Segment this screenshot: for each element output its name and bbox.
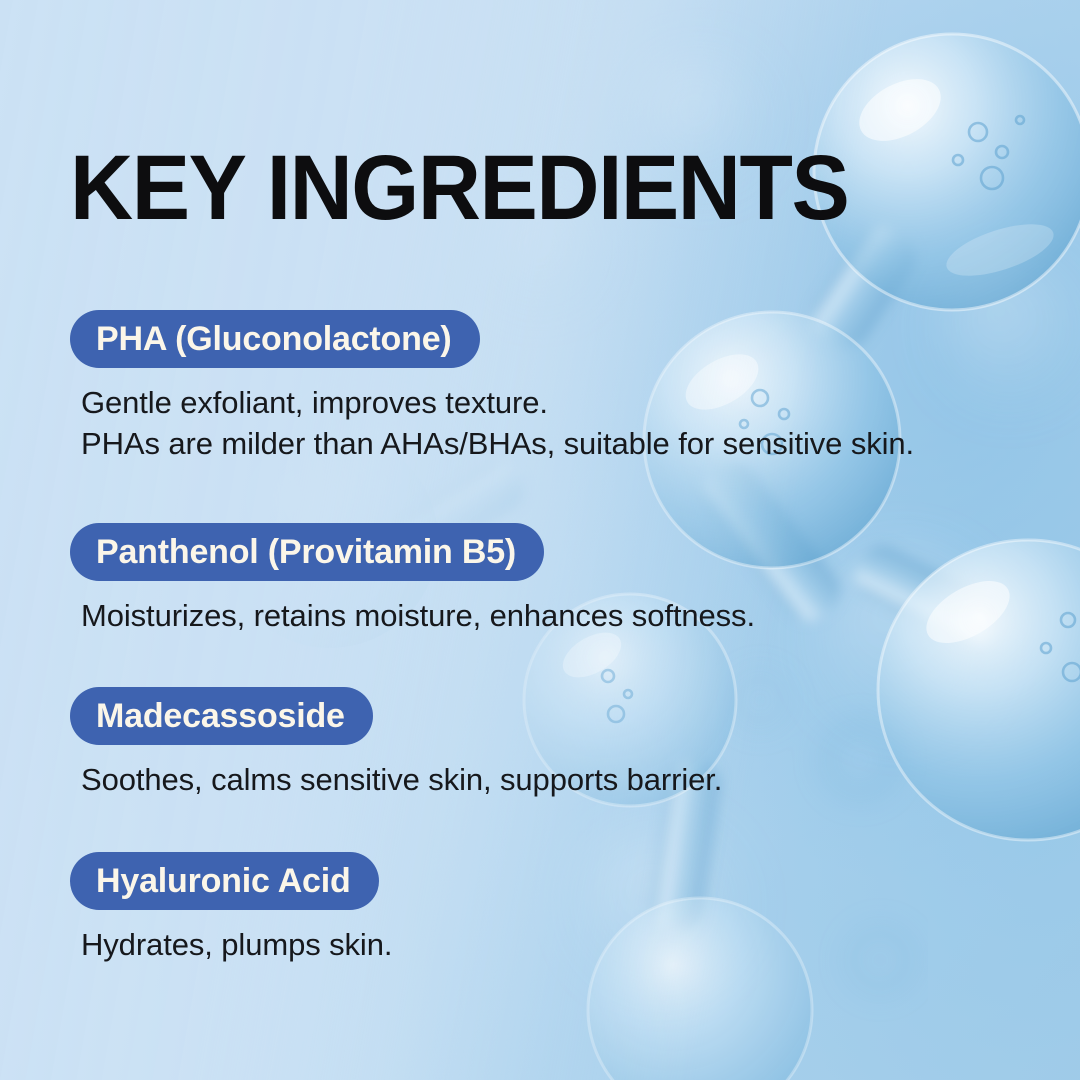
ingredient-section-panthenol: Panthenol (Provitamin B5) Moisturizes, r… — [70, 523, 1030, 636]
ingredient-name-badge: PHA (Gluconolactone) — [70, 310, 480, 368]
page-title: KEY INGREDIENTS — [70, 142, 848, 234]
ingredient-name-badge: Hyaluronic Acid — [70, 852, 379, 910]
ingredient-name-badge: Panthenol (Provitamin B5) — [70, 523, 544, 581]
infographic-canvas: KEY INGREDIENTS PHA (Gluconolactone) Gen… — [0, 0, 1080, 1080]
ingredient-section-madecassoside: Madecassoside Soothes, calms sensitive s… — [70, 687, 1030, 800]
ingredient-section-hyaluronic-acid: Hyaluronic Acid Hydrates, plumps skin. — [70, 852, 1030, 965]
description-line: Hydrates, plumps skin. — [81, 924, 1030, 965]
ingredient-description: Soothes, calms sensitive skin, supports … — [70, 745, 1030, 800]
description-line: Soothes, calms sensitive skin, supports … — [81, 759, 1030, 800]
description-line: Moisturizes, retains moisture, enhances … — [81, 595, 1030, 636]
ingredient-description: Hydrates, plumps skin. — [70, 910, 1030, 965]
ingredient-name-badge: Madecassoside — [70, 687, 373, 745]
description-line: PHAs are milder than AHAs/BHAs, suitable… — [81, 423, 1030, 464]
ingredient-description: Moisturizes, retains moisture, enhances … — [70, 581, 1030, 636]
content-layer: KEY INGREDIENTS PHA (Gluconolactone) Gen… — [0, 0, 1080, 1080]
ingredient-section-pha: PHA (Gluconolactone) Gentle exfoliant, i… — [70, 310, 1030, 464]
ingredient-description: Gentle exfoliant, improves texture. PHAs… — [70, 368, 1030, 464]
description-line: Gentle exfoliant, improves texture. — [81, 382, 1030, 423]
